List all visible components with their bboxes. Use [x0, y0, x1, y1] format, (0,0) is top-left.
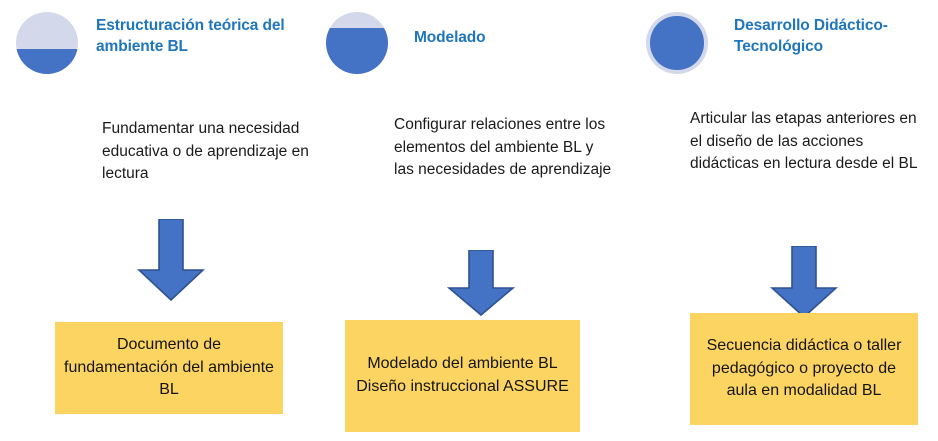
progress-circle-estructuracion	[16, 12, 78, 74]
progress-circle-icon	[326, 12, 388, 74]
column-description-estructuracion: Fundamentar una necesidad educativa o de…	[102, 118, 317, 186]
progress-circle-desarrollo	[646, 12, 708, 74]
progress-circle-fill	[326, 28, 388, 75]
progress-circle-icon	[646, 12, 708, 74]
stage-column-estructuracion-teorica: Estructuración teórica del ambiente BL F…	[0, 0, 310, 441]
column-header: Desarrollo Didáctico-Tecnológico	[622, 6, 938, 90]
stage-column-modelado: Modelado Configurar relaciones entre los…	[312, 0, 620, 441]
result-box-estructuracion: Documento de fundamentación del ambiente…	[55, 322, 283, 414]
column-description-desarrollo: Articular las etapas anteriores en el di…	[690, 108, 922, 176]
down-arrow-icon	[447, 250, 515, 316]
column-header: Modelado	[312, 6, 620, 90]
stage-column-desarrollo-didactico-tecnologico: Desarrollo Didáctico-Tecnológico Articul…	[622, 0, 938, 441]
column-description-modelado: Configurar relaciones entre los elemento…	[394, 114, 612, 182]
progress-circle-modelado	[326, 12, 388, 74]
progress-circle-fill	[650, 16, 703, 69]
column-header: Estructuración teórica del ambiente BL	[0, 6, 310, 90]
progress-circle-fill	[16, 49, 78, 74]
down-arrow-icon	[137, 219, 205, 301]
column-heading-desarrollo: Desarrollo Didáctico-Tecnológico	[734, 16, 932, 58]
result-box-modelado: Modelado del ambiente BL Diseño instrucc…	[345, 320, 580, 432]
progress-circle-icon	[16, 12, 78, 74]
column-heading-modelado: Modelado	[414, 28, 604, 49]
diagram-canvas: Estructuración teórica del ambiente BL F…	[0, 0, 938, 441]
result-box-desarrollo: Secuencia didáctica o taller pedagógico …	[690, 313, 918, 425]
column-heading-estructuracion: Estructuración teórica del ambiente BL	[96, 16, 296, 58]
down-arrow-icon	[770, 246, 838, 318]
